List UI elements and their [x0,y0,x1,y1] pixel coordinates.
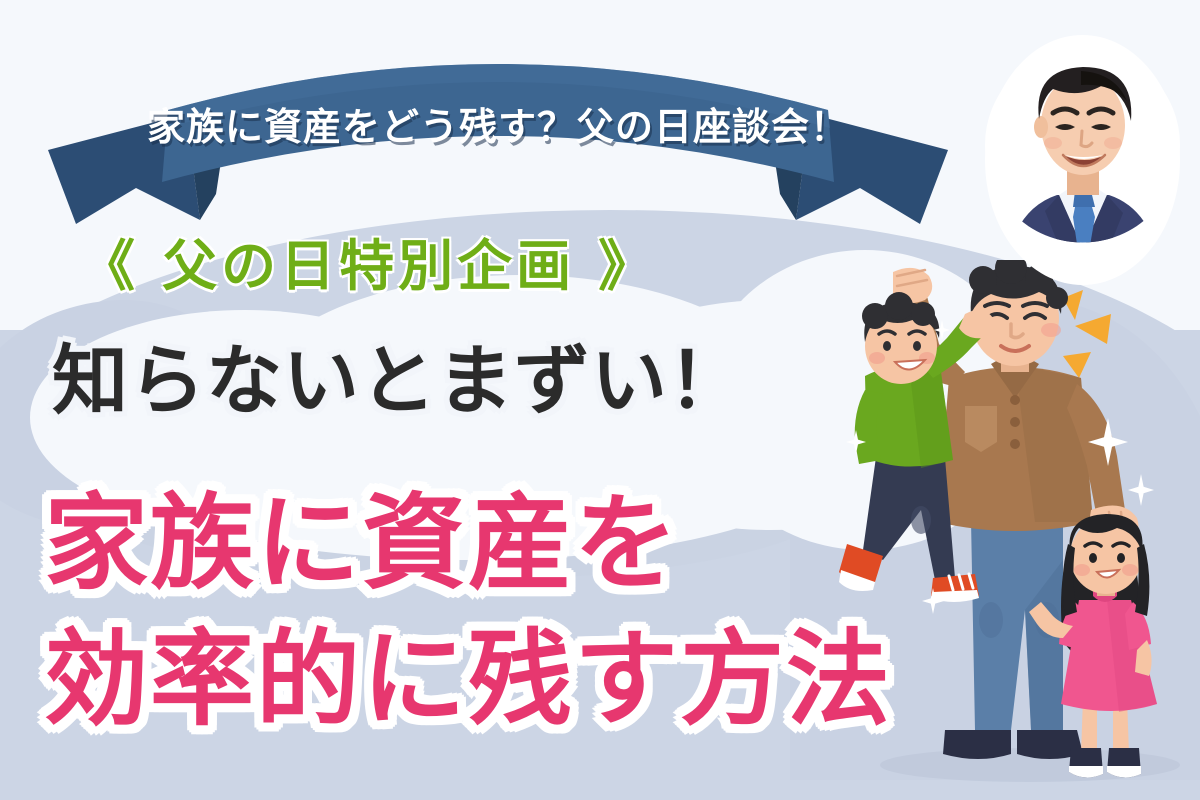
orange-accent-marks [1063,290,1111,378]
subheading: 知らないとまずい！ [52,319,745,429]
eyebrow-heading-wrap: 《 父の日特別企画 》 [80,228,860,294]
poster-canvas: 家族に資産をどう残す？父の日座談会！ 《 父の日特別企画 》 知らないとまずい！… [0,0,1200,800]
family-illustration [825,260,1200,800]
main-title-line-1-wrap: 家族に資産を [44,468,864,598]
main-title-line-1: 家族に資産を [44,458,680,609]
ribbon-banner: 家族に資産をどう残す？父の日座談会！ [18,42,978,227]
subheading-wrap: 知らないとまずい！ [52,328,872,420]
speaker-portrait [985,35,1180,285]
main-title-line-2: 効率的に残す方法 [44,594,892,745]
ribbon-text-wrap: 家族に資産をどう残す？父の日座談会！ [18,42,978,172]
eyebrow-heading: 《 父の日特別企画 》 [80,221,657,301]
ribbon-title: 家族に資産をどう残す？父の日座談会！ [147,96,849,151]
